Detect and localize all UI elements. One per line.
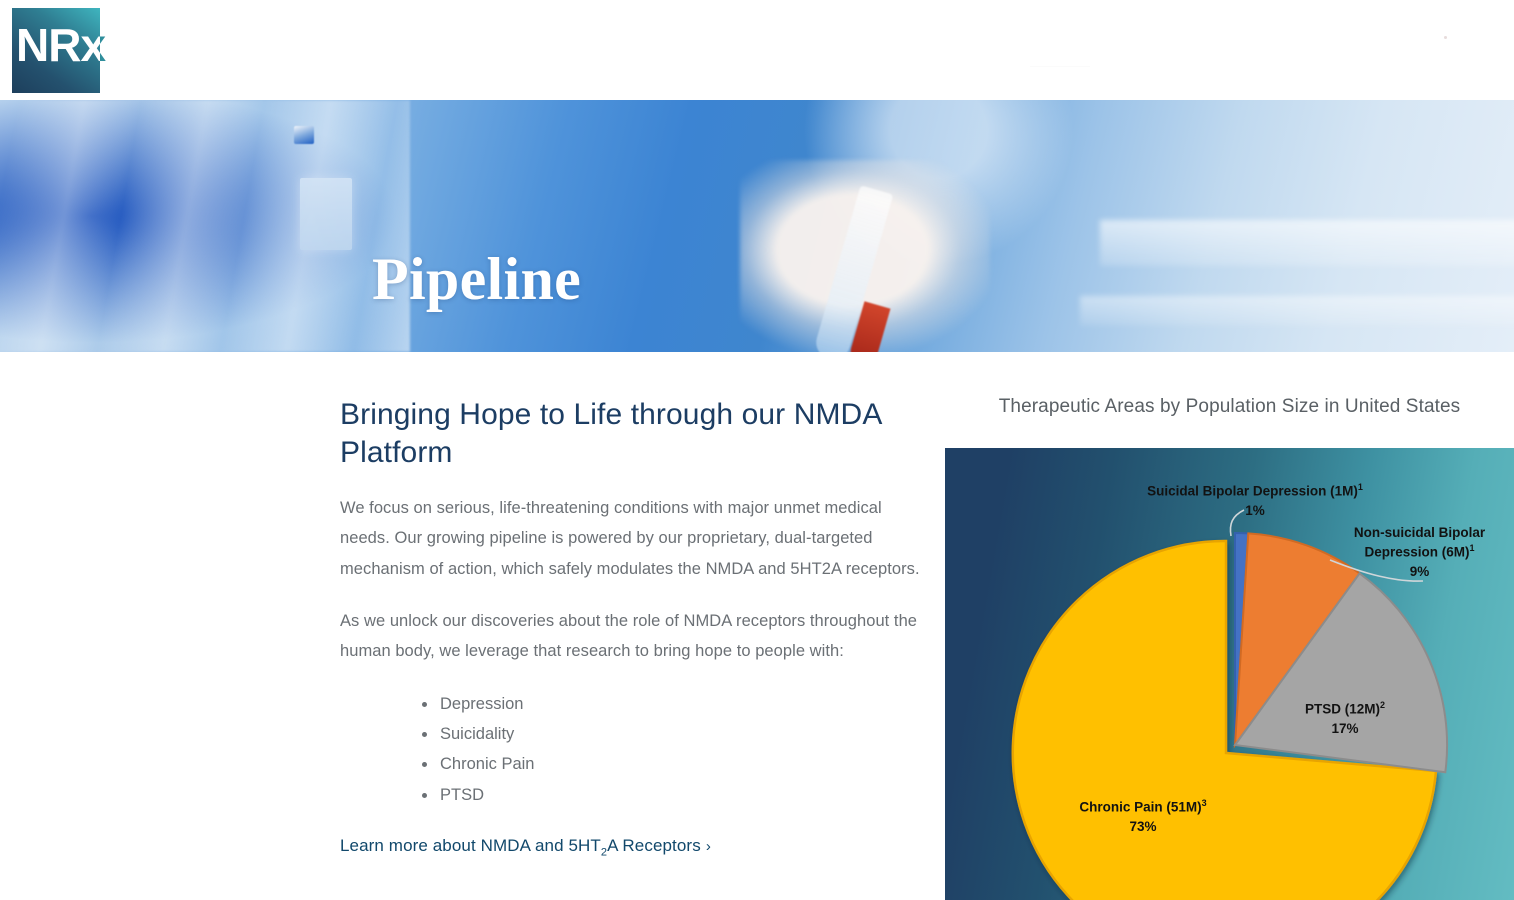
- hero-banner: Pipeline: [0, 100, 1514, 352]
- header-divider-faint: [1030, 66, 1090, 67]
- pie-label-nonsuicidal-bipolar: Non-suicidal Bipolar Depression (6M)1 9%: [1327, 523, 1512, 581]
- chevron-right-icon: ›: [706, 838, 711, 855]
- pie-label-name: PTSD (12M): [1305, 702, 1380, 717]
- pie-label-footnote: 2: [1380, 700, 1385, 710]
- lab-shelf-secondary-region: [1080, 296, 1514, 326]
- pie-label-percent: 17%: [1265, 719, 1425, 738]
- conditions-list: Depression Suicidality Chronic Pain PTSD: [340, 689, 922, 810]
- pie-label-name: Suicidal Bipolar Depression (1M): [1147, 484, 1358, 499]
- learn-link-text-post: A Receptors: [607, 836, 701, 855]
- id-badge-region: [300, 178, 352, 250]
- pie-label-suicidal-bipolar: Suicidal Bipolar Depression (1M)1 1%: [1095, 481, 1415, 520]
- pie-label-footnote: 3: [1202, 798, 1207, 808]
- list-item: Suicidality: [414, 719, 922, 749]
- pie-label-percent: 73%: [1013, 817, 1273, 836]
- pie-label-percent: 9%: [1327, 562, 1512, 581]
- learn-more-nmda-link[interactable]: Learn more about NMDA and 5HT2A Receptor…: [340, 836, 711, 858]
- pie-label-name-line2: Depression (6M): [1364, 545, 1469, 560]
- therapeutic-areas-chart: Therapeutic Areas by Population Size in …: [945, 396, 1514, 900]
- pie-label-name: Chronic Pain (51M): [1079, 800, 1201, 815]
- pie-label-percent: 1%: [1095, 501, 1415, 520]
- pie-label-footnote: 1: [1470, 543, 1475, 553]
- intro-content-column: Bringing Hope to Life through our NMDA P…: [340, 396, 922, 858]
- chart-title: Therapeutic Areas by Population Size in …: [945, 396, 1514, 418]
- list-item: PTSD: [414, 780, 922, 810]
- site-header: NRx NRx: [0, 0, 1514, 100]
- pie-label-ptsd: PTSD (12M)2 17%: [1265, 699, 1425, 738]
- pocket-pen-icon: [294, 126, 314, 144]
- section-heading: Bringing Hope to Life through our NMDA P…: [340, 396, 922, 473]
- list-item: Chronic Pain: [414, 749, 922, 779]
- pie-chart-panel: Suicidal Bipolar Depression (1M)1 1% Non…: [945, 448, 1514, 900]
- lab-shelf-region: [1100, 220, 1514, 266]
- page-title: Pipeline: [372, 248, 581, 311]
- pie-label-name-line1: Non-suicidal Bipolar: [1354, 525, 1485, 540]
- header-marker-dot: [1444, 36, 1447, 39]
- list-item: Depression: [414, 689, 922, 719]
- logo-x-overflow: NRx: [100, 8, 126, 93]
- learn-link-text-pre: Learn more about NMDA and 5HT: [340, 836, 601, 855]
- logo-wordmark: NRx: [16, 22, 105, 68]
- pie-label-chronic-pain: Chronic Pain (51M)3 73%: [1013, 797, 1273, 836]
- nrx-logo[interactable]: NRx NRx: [12, 8, 100, 93]
- pie-label-footnote: 1: [1358, 482, 1363, 492]
- intro-paragraph-1: We focus on serious, life-threatening co…: [340, 493, 922, 584]
- intro-paragraph-2: As we unlock our discoveries about the r…: [340, 606, 922, 667]
